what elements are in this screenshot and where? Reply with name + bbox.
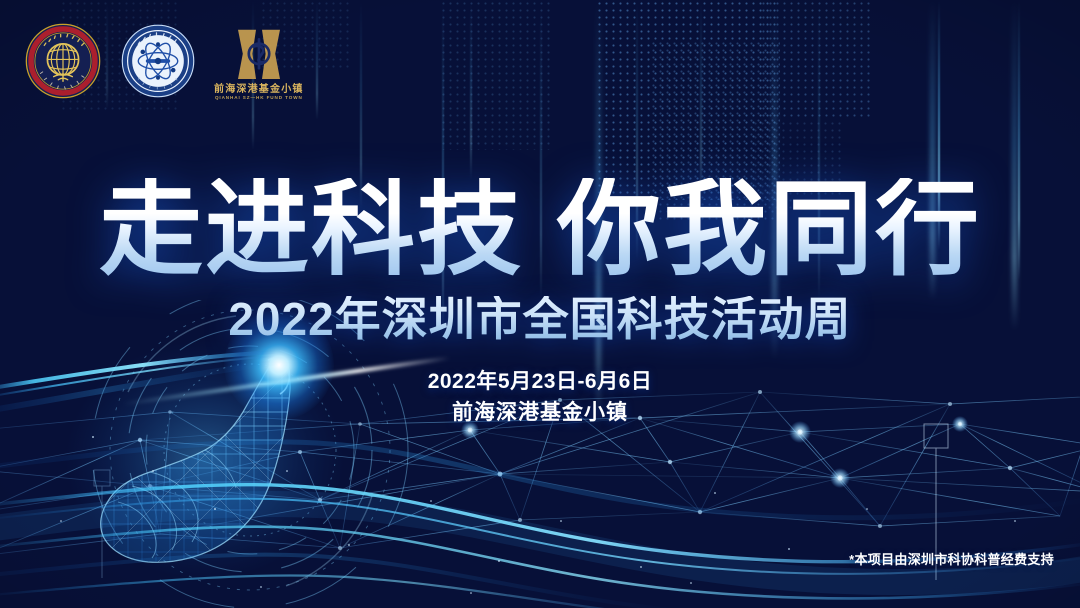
china-association-science-technology-emblem bbox=[24, 22, 102, 105]
event-poster: 前海深港基金小镇 QIANHAI SZ—HK FUND TOWN 走进科技你我同… bbox=[0, 0, 1080, 608]
shenzhen-science-education-association-emblem bbox=[120, 23, 196, 104]
funding-footnote: *本项目由深圳市科协科普经费支持 bbox=[849, 549, 1054, 568]
fund-town-en-label: QIANHAI SZ—HK FUND TOWN bbox=[215, 96, 303, 101]
qianhai-fund-town-logo: 前海深港基金小镇 QIANHAI SZ—HK FUND TOWN bbox=[214, 26, 304, 101]
fund-town-monogram-icon bbox=[232, 26, 286, 84]
fund-town-cn-label: 前海深港基金小镇 bbox=[214, 85, 304, 95]
logo-bar: 前海深港基金小镇 QIANHAI SZ—HK FUND TOWN bbox=[24, 22, 304, 105]
